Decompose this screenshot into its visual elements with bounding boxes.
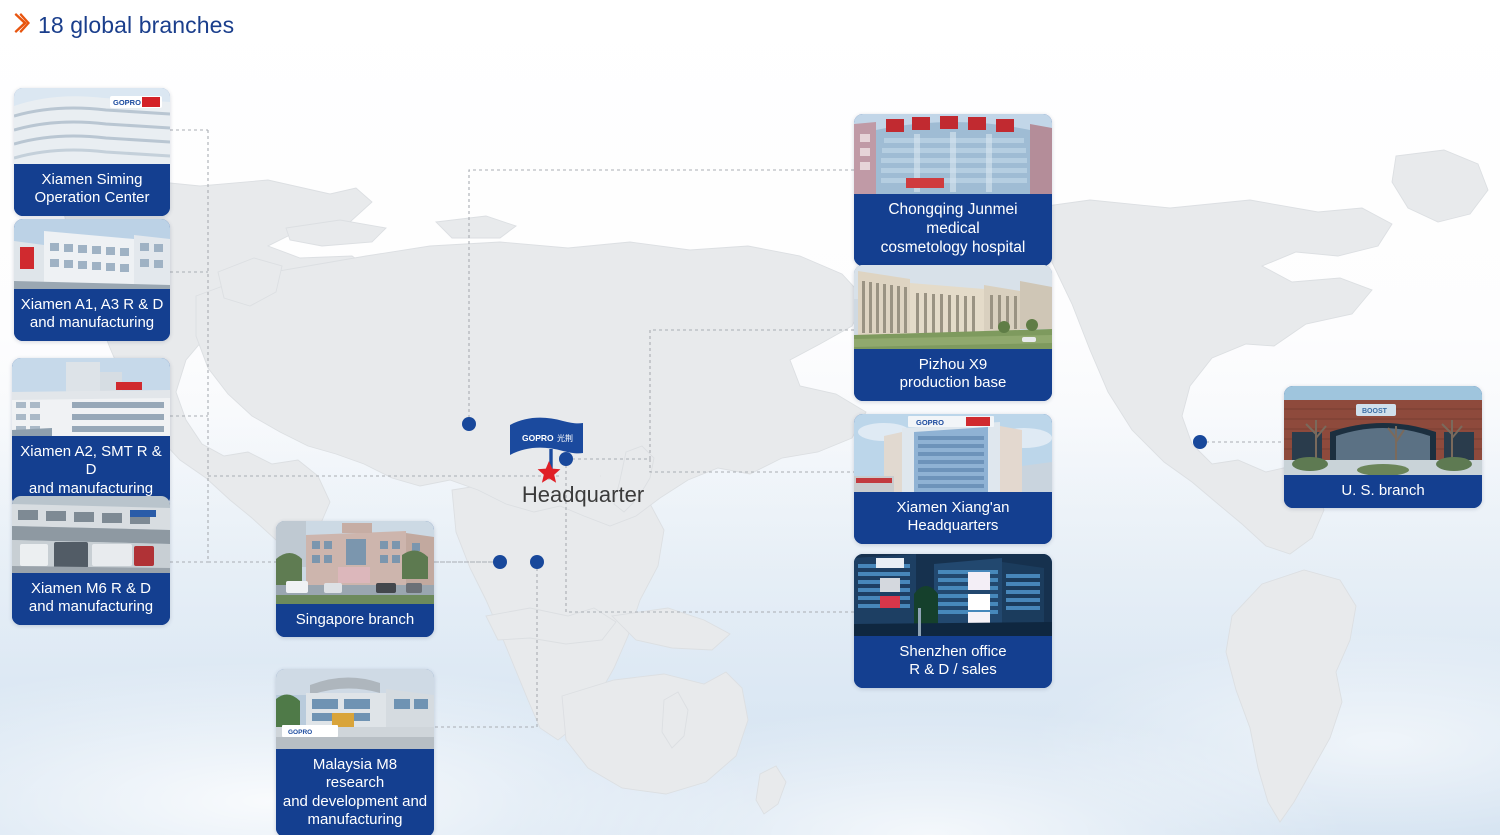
branch-card-xiamen-a2-smt[interactable]: Xiamen A2, SMT R & D and manufacturing <box>12 358 170 506</box>
branch-photo <box>854 114 1052 194</box>
branch-card-malaysia-m8[interactable]: GOPRO Malaysia M8 research and developme… <box>276 669 434 835</box>
branch-photo: GOPRO <box>14 88 170 164</box>
branch-card-xiamen-m6[interactable]: Xiamen M6 R & D and manufacturing <box>12 496 170 625</box>
branch-card-singapore[interactable]: Singapore branch <box>276 521 434 637</box>
svg-text:GOPRO: GOPRO <box>113 98 141 107</box>
branch-card-shenzhen-office[interactable]: Shenzhen office R & D / sales <box>854 554 1052 688</box>
branch-caption: Malaysia M8 research and development and… <box>276 749 434 835</box>
branch-caption: Shenzhen office R & D / sales <box>854 636 1052 688</box>
branch-caption: Xiamen Siming Operation Center <box>14 164 170 216</box>
headquarter-label: Headquarter <box>522 482 644 508</box>
branch-photo: GOPRO <box>276 669 434 749</box>
branch-photo: BOOST <box>1284 386 1482 475</box>
branch-caption: Xiamen Xiang'an Headquarters <box>854 492 1052 544</box>
chevron-right-icon <box>14 12 30 39</box>
branch-photo <box>14 219 170 289</box>
page-title: 18 global branches <box>38 12 234 39</box>
branch-photo <box>12 496 170 573</box>
branch-photo <box>854 265 1052 349</box>
svg-text:GOPRO: GOPRO <box>916 418 944 427</box>
branch-card-xiamen-xiangan[interactable]: GOPRO Xiamen Xiang'an Headquarters <box>854 414 1052 544</box>
dot-singapore[interactable] <box>493 555 507 569</box>
dot-malaysia[interactable] <box>530 555 544 569</box>
branch-photo <box>276 521 434 604</box>
dot-usa[interactable] <box>1193 435 1207 449</box>
branch-caption: Pizhou X9 production base <box>854 349 1052 401</box>
dot-chongqing[interactable] <box>462 417 476 431</box>
branch-card-chongqing-junmei[interactable]: Chongqing Junmei medical cosmetology hos… <box>854 114 1052 266</box>
flag-brand-text: GOPRO <box>522 433 554 443</box>
svg-text:BOOST: BOOST <box>1362 408 1388 415</box>
branch-caption: Singapore branch <box>276 604 434 637</box>
global-branches-map: 18 global branches GOPRO 光荆 Headquarter <box>0 0 1500 835</box>
page-header: 18 global branches <box>14 12 234 39</box>
branch-card-xiamen-a1-a3[interactable]: Xiamen A1, A3 R & D and manufacturing <box>14 219 170 341</box>
branch-card-xiamen-siming[interactable]: GOPRO Xiamen Siming Operation Center <box>14 88 170 216</box>
svg-text:GOPRO: GOPRO <box>288 729 312 736</box>
world-map <box>0 60 1500 835</box>
branch-card-pizhou-x9[interactable]: Pizhou X9 production base <box>854 265 1052 401</box>
branch-photo <box>854 554 1052 636</box>
branch-card-us[interactable]: BOOST U. S. branch <box>1284 386 1482 508</box>
branch-photo <box>12 358 170 436</box>
flag-brand-text-cn: 光荆 <box>557 433 573 443</box>
branch-caption: Xiamen M6 R & D and manufacturing <box>12 573 170 625</box>
branch-caption: U. S. branch <box>1284 475 1482 508</box>
branch-caption: Chongqing Junmei medical cosmetology hos… <box>854 194 1052 266</box>
red-star-marker[interactable] <box>537 460 561 484</box>
branch-photo: GOPRO <box>854 414 1052 492</box>
branch-caption: Xiamen A1, A3 R & D and manufacturing <box>14 289 170 341</box>
